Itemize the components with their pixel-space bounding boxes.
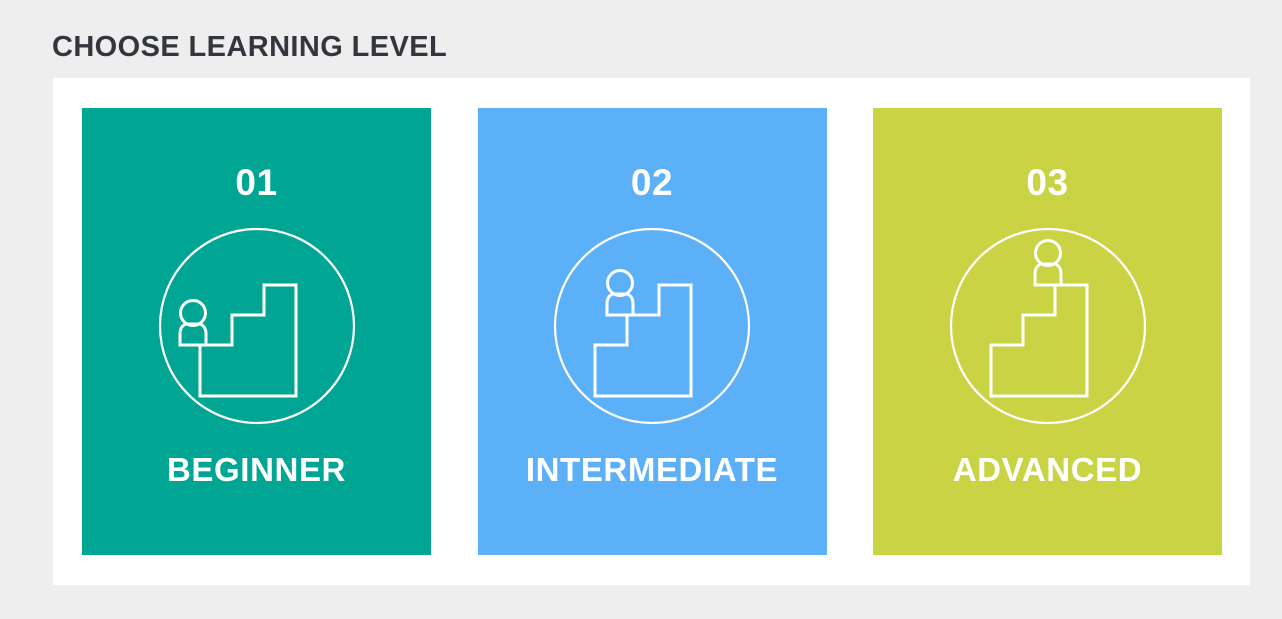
- stairs-person-step-2-icon: [553, 227, 751, 425]
- level-card-list: 01 BEGINNER 02: [82, 108, 1222, 555]
- learning-level-slide: CHOOSE LEARNING LEVEL 01 BEGINNER 02: [0, 0, 1282, 619]
- card-number: 02: [631, 164, 673, 201]
- page-title: CHOOSE LEARNING LEVEL: [52, 33, 447, 62]
- content-panel: 01 BEGINNER 02: [53, 78, 1250, 585]
- card-number: 01: [235, 164, 277, 201]
- card-number: 03: [1026, 164, 1068, 201]
- card-label: ADVANCED: [953, 453, 1142, 486]
- card-label: INTERMEDIATE: [526, 453, 778, 486]
- level-card-intermediate[interactable]: 02 INTERMEDIATE: [478, 108, 827, 555]
- stairs-person-step-3-icon: [949, 227, 1147, 425]
- card-label: BEGINNER: [167, 453, 346, 486]
- level-card-advanced[interactable]: 03 ADVANCED: [873, 108, 1222, 555]
- stairs-person-step-1-icon: [158, 227, 356, 425]
- level-card-beginner[interactable]: 01 BEGINNER: [82, 108, 431, 555]
